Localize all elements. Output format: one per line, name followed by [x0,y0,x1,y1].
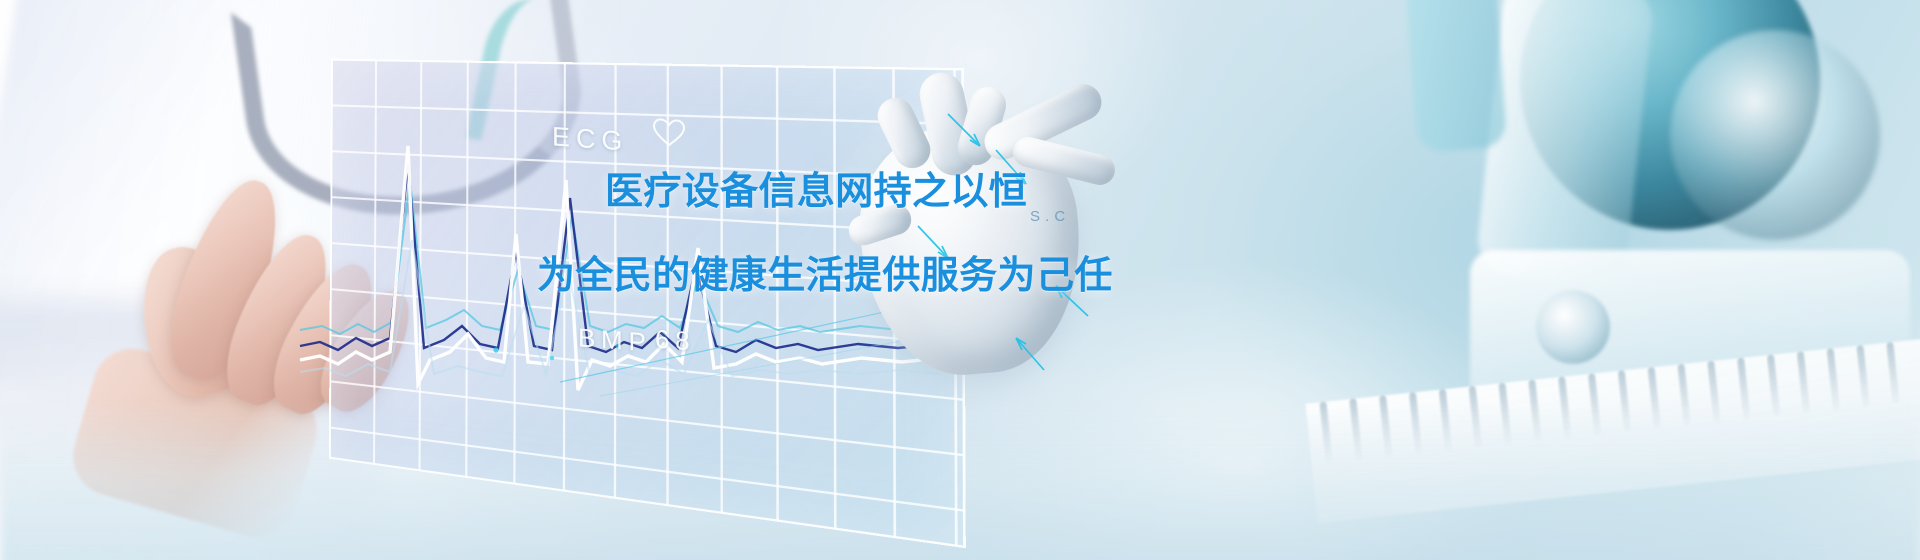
ecg-marker-dot [550,356,554,360]
headline-block: 医疗设备信息网持之以恒 为全民的健康生活提供服务为己任 [605,168,1305,298]
headline-line-2: 为全民的健康生活提供服务为己任 [537,252,1305,298]
arrow-line [1016,338,1044,370]
microscope-focus-knob [1536,290,1610,364]
microscope-arm [1475,0,1656,287]
arrow-line [948,114,980,146]
microscope-lens-ring [1670,30,1880,240]
bmp-label: BMP [578,322,652,358]
bmp-value: 68 [655,324,695,358]
microscope-eyepiece-tube [1403,0,1507,153]
ecg-label: ECG [552,121,628,157]
heart-outline-icon [652,117,686,149]
headline-line-1: 医疗设备信息网持之以恒 [605,168,1305,214]
ecg-marker-dot [493,347,498,352]
medical-banner: ECG BMP 68 S.C 医疗设备信息网持之以恒 为全民的健康生活提供服务为… [0,0,1920,560]
